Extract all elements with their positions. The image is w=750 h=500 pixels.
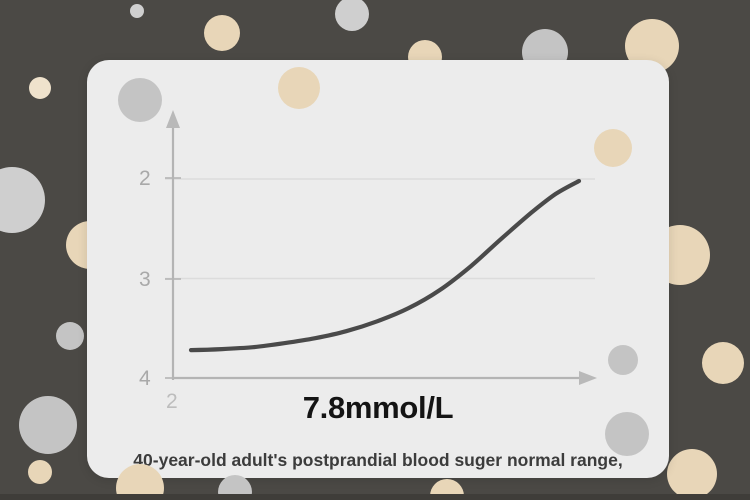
dot-bg-8 xyxy=(28,460,52,484)
y-tick-label-1: 3 xyxy=(139,269,151,290)
dot-bg-9 xyxy=(335,0,369,31)
dot-bg-2 xyxy=(130,4,144,18)
chart-gridlines xyxy=(165,179,595,279)
blood-sugar-chart xyxy=(87,60,669,390)
x-axis xyxy=(173,371,597,385)
info-card: 2 3 4 2 7.8mmol/L 40-year-old adult's po… xyxy=(87,60,669,478)
dot-bg-4 xyxy=(0,167,45,233)
dot-card-1 xyxy=(118,78,162,122)
dot-bg-6 xyxy=(56,322,84,350)
dot-bg-7 xyxy=(19,396,77,454)
y-tick-label-0: 2 xyxy=(139,168,151,189)
dot-card-2 xyxy=(278,67,320,109)
dot-card-4 xyxy=(608,345,638,375)
value-readout: 7.8mmol/L xyxy=(87,390,669,426)
bottom-bar xyxy=(0,494,750,500)
screenshot-root: 2 3 4 2 7.8mmol/L 40-year-old adult's po… xyxy=(0,0,750,500)
dot-bg-1 xyxy=(29,77,51,99)
y-axis xyxy=(165,110,181,380)
dot-card-3 xyxy=(594,129,632,167)
card-content: 2 3 4 2 7.8mmol/L 40-year-old adult's po… xyxy=(87,60,669,478)
dot-bg-15 xyxy=(667,449,717,499)
y-tick-label-2: 4 xyxy=(139,368,151,389)
data-curve xyxy=(191,181,579,350)
dot-bg-14 xyxy=(702,342,744,384)
dot-bg-3 xyxy=(204,15,240,51)
caption-text: 40-year-old adult's postprandial blood s… xyxy=(87,450,669,471)
dot-card-5 xyxy=(605,412,649,456)
